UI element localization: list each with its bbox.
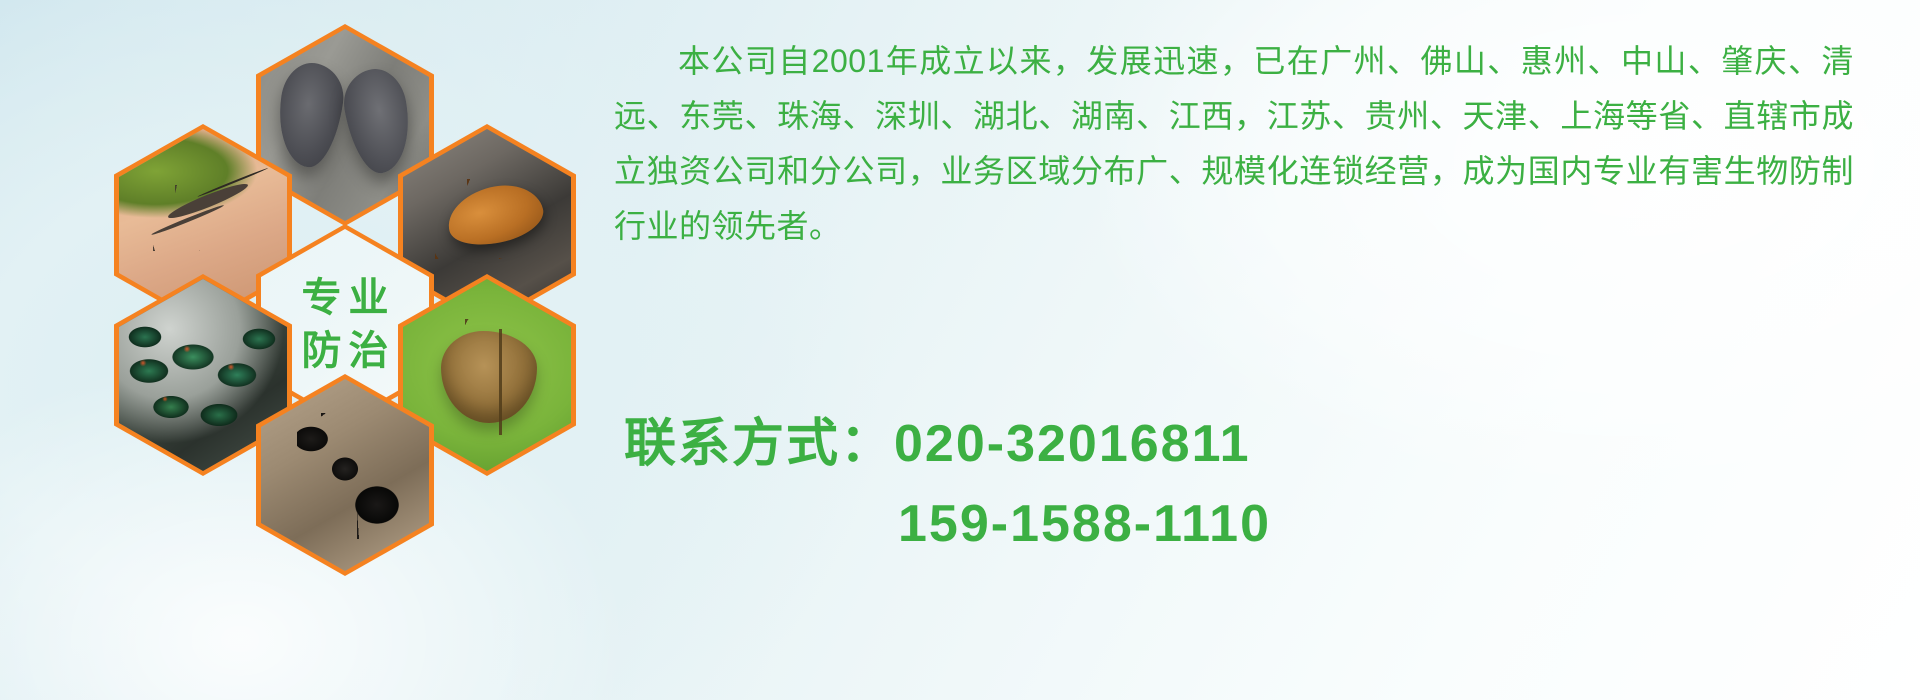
contact-phone-primary[interactable]: 联系方式：020-32016811	[614, 404, 1854, 484]
honeycomb-photo-cluster: 专业 防治	[96, 18, 596, 578]
company-intro-paragraph: 本公司自2001年成立以来，发展迅速，已在广州、佛山、惠州、中山、肇庆、清远、东…	[614, 34, 1854, 254]
badge-line-1: 专业	[295, 276, 396, 321]
contact-phone-secondary[interactable]: 159-1588-1110	[614, 484, 1854, 564]
contact-block: 联系方式：020-32016811 159-1588-1110	[614, 404, 1854, 564]
promo-banner: 专业 防治 本公司自2001年成立以来，发展迅速，已在广州、佛山、惠州、中山、肇…	[0, 0, 1920, 700]
badge-line-2: 防治	[295, 329, 396, 374]
company-description-block: 本公司自2001年成立以来，发展迅速，已在广州、佛山、惠州、中山、肇庆、清远、东…	[614, 34, 1854, 254]
hex-inner-ant	[261, 379, 429, 571]
ant-photo	[261, 379, 429, 571]
